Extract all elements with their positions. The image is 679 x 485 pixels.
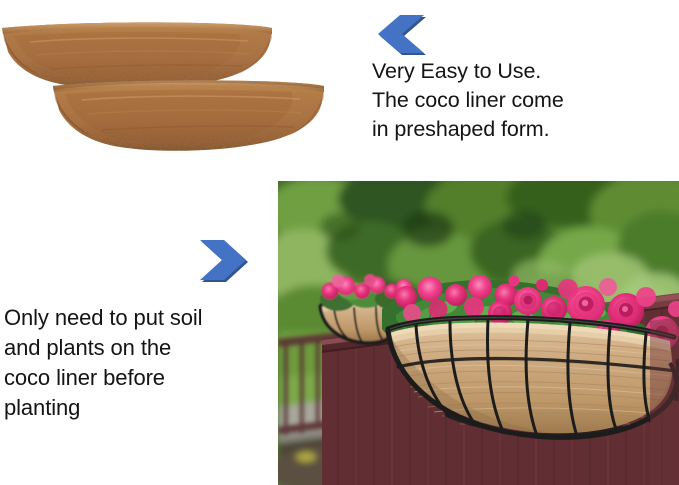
coco-liner-upper [2,22,272,89]
product-infographic-page: Very Easy to Use. The coco liner come in… [0,0,679,485]
callout-text-only-need-to-put-soil: Only need to put soil and plants on the … [4,303,276,423]
chevron-left-icon [374,12,428,56]
rose-bloom [488,301,512,325]
chevron-right-icon [196,237,252,283]
lifestyle-photo-roses-in-trough [278,181,679,485]
coco-liner-product-image [0,12,340,162]
coco-liner-lower [53,80,324,150]
callout-text-very-easy-to-use: Very Easy to Use. The coco liner come in… [372,57,672,144]
railing-post-right [650,317,679,485]
rose-bloom [514,287,542,315]
